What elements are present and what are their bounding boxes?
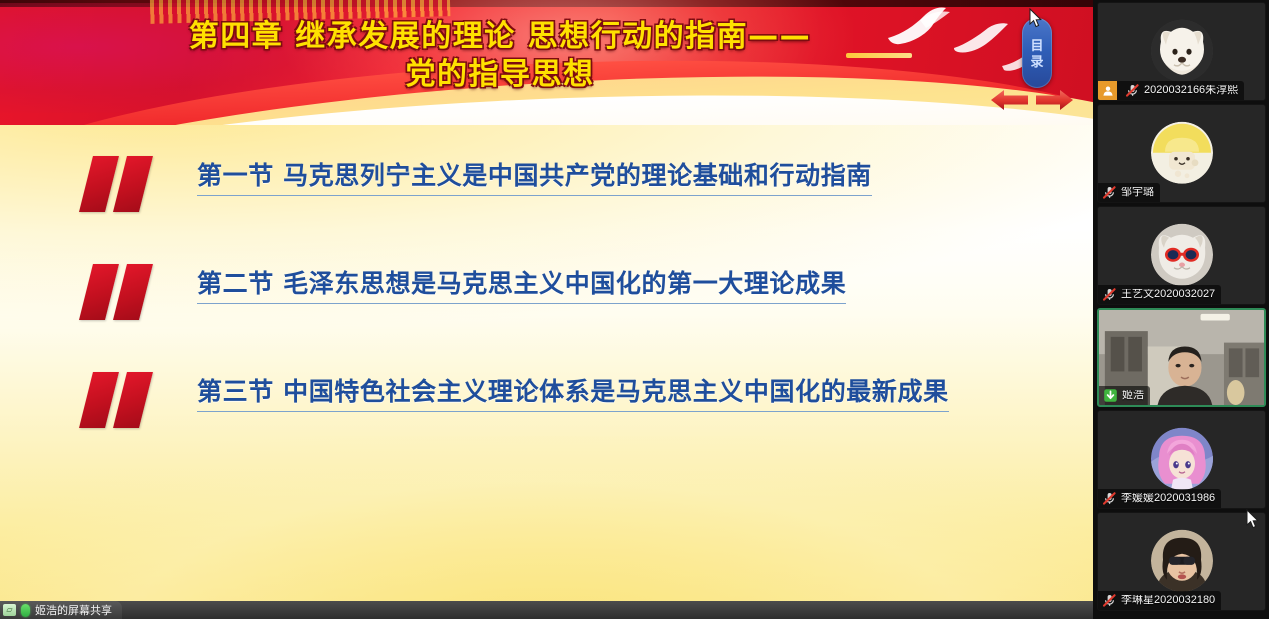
section-link[interactable]: 第一节 马克思列宁主义是中国共产党的理论基础和行动指南 [197,156,872,196]
table-of-contents-button[interactable]: 目 录 [1022,18,1052,88]
participant-name-bar: 2020032166朱淳熙 [1098,81,1244,100]
slide-title: 第四章 继承发展的理论 思想行动的指南—— 党的指导思想 [0,18,1000,95]
participant-name: 邹宇璐 [1121,187,1154,198]
toc-char-1: 目 [1030,39,1043,52]
mic-muted-icon[interactable] [1102,491,1117,506]
participant-name-bar: 邹宇璐 [1098,183,1160,202]
section-marker-icon [82,156,164,212]
mic-on-icon[interactable] [1103,388,1118,403]
participant-tile[interactable]: 李琳星2020032180 [1097,512,1266,611]
participant-name: 李媛媛2020031986 [1121,493,1215,504]
next-slide-arrow-icon[interactable] [1036,89,1073,111]
mic-on-icon[interactable] [21,604,30,617]
avatar [1151,427,1213,489]
section-link[interactable]: 第二节 毛泽东思想是马克思主义中国化的第一大理论成果 [197,264,846,304]
list-item[interactable]: 第二节 毛泽东思想是马克思主义中国化的第一大理论成果 [0,258,1093,366]
screen-share-toolbar: ▱ 姬浩的屏幕共享 [0,601,1093,619]
presentation-slide: 第四章 继承发展的理论 思想行动的指南—— 党的指导思想 目 录 [0,0,1093,605]
mic-muted-icon[interactable] [1102,593,1117,608]
slide-title-banner: 第四章 继承发展的理论 思想行动的指南—— 党的指导思想 目 录 [0,0,1093,125]
participant-tile[interactable]: 邹宇璐 [1097,104,1266,203]
list-item[interactable]: 第三节 中国特色社会主义理论体系是马克思主义中国化的最新成果 [0,366,1093,474]
participant-name-bar: 王艺文2020032027 [1098,285,1221,304]
meeting-screen-share-window: 第四章 继承发展的理论 思想行动的指南—— 党的指导思想 目 录 [0,0,1269,619]
participant-name-bar: 姬浩 [1099,386,1150,405]
participant-tile[interactable]: 2020032166朱淳熙 [1097,2,1266,101]
slide-section-list: 第一节 马克思列宁主义是中国共产党的理论基础和行动指南 第二节 毛泽东思想是马克… [0,150,1093,474]
participant-video-strip[interactable]: 2020032166朱淳熙 [1093,0,1269,619]
host-person-icon [1098,81,1117,100]
participant-name: 王艺文2020032027 [1121,289,1215,300]
avatar [1151,223,1213,285]
section-link[interactable]: 第三节 中国特色社会主义理论体系是马克思主义中国化的最新成果 [197,372,949,412]
participant-tile[interactable]: 李媛媛2020031986 [1097,410,1266,509]
previous-slide-arrow-icon[interactable] [991,89,1028,111]
participant-name-bar: 李琳星2020032180 [1098,591,1221,610]
mic-muted-icon[interactable] [1102,287,1117,302]
avatar [1151,121,1213,183]
participant-name-bar: 李媛媛2020031986 [1098,489,1221,508]
participant-name: 李琳星2020032180 [1121,595,1215,606]
mic-muted-icon[interactable] [1125,83,1140,98]
mic-muted-icon[interactable] [1102,185,1117,200]
participant-name: 2020032166朱淳熙 [1144,85,1238,96]
shared-screen-area: 第四章 继承发展的理论 思想行动的指南—— 党的指导思想 目 录 [0,0,1093,619]
slide-navigation [991,86,1073,114]
participant-tile-active-speaker[interactable]: 姬浩 [1097,308,1266,407]
avatar [1151,529,1213,591]
section-marker-icon [82,264,164,320]
screen-share-icon: ▱ [3,604,16,616]
participant-name: 姬浩 [1122,390,1144,401]
screen-share-status-chip[interactable]: ▱ 姬浩的屏幕共享 [0,601,122,619]
toc-char-2: 录 [1030,55,1043,68]
list-item[interactable]: 第一节 马克思列宁主义是中国共产党的理论基础和行动指南 [0,150,1093,258]
avatar [1151,19,1213,81]
screen-share-label: 姬浩的屏幕共享 [35,602,112,618]
section-marker-icon [82,372,164,428]
participant-tile[interactable]: 王艺文2020032027 [1097,206,1266,305]
